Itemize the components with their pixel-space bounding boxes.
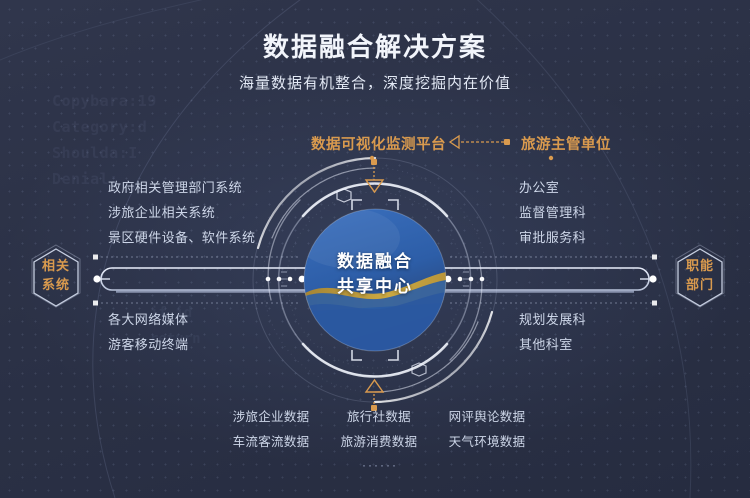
hexagon-right-label: 职能 部门 xyxy=(661,231,739,319)
bottom-data-grid: 涉旅企业数据 旅行社数据 网评舆论数据 车流客流数据 旅游消费数据 天气环境数据 xyxy=(230,405,530,455)
hexagon-left-label: 相关 系统 xyxy=(17,231,95,319)
right-column-bottom: 规划发展科 其他科室 xyxy=(519,307,586,357)
page-subtitle: 海量数据有机整合，深度挖掘内在价值 xyxy=(0,72,750,93)
list-item: 旅行社数据 xyxy=(338,405,420,430)
list-item: 涉旅企业相关系统 xyxy=(108,200,255,225)
left-column-top: 政府相关管理部门系统 涉旅企业相关系统 景区硬件设备、软件系统 xyxy=(108,175,255,250)
hexagon-left-line1: 相关 xyxy=(42,256,70,275)
marker-top xyxy=(366,159,383,192)
list-item: 游客移动终端 xyxy=(108,332,188,357)
list-item: 网评舆论数据 xyxy=(446,405,528,430)
right-column-top: 办公室 监督管理科 审批服务科 xyxy=(519,175,586,250)
hexagon-right-line2: 部门 xyxy=(686,275,714,294)
list-item: 办公室 xyxy=(519,175,586,200)
core-line2: 共享中心 xyxy=(299,274,451,299)
list-item: 监督管理科 xyxy=(519,200,586,225)
list-item: 旅游消费数据 xyxy=(338,430,420,455)
table-row: 涉旅企业数据 旅行社数据 网评舆论数据 xyxy=(230,405,530,430)
top-dashed-arrow xyxy=(450,136,510,148)
core-sphere-label: 数据融合 共享中心 xyxy=(299,249,451,299)
list-item: 景区硬件设备、软件系统 xyxy=(108,225,255,250)
label-tourism-authority[interactable]: 旅游主管单位 xyxy=(521,133,611,154)
list-item: 各大网络媒体 xyxy=(108,307,188,332)
list-item: 政府相关管理部门系统 xyxy=(108,175,255,200)
list-item: 天气环境数据 xyxy=(446,430,528,455)
hexagon-right-functional-departments[interactable]: 职能 部门 xyxy=(661,231,739,319)
list-item: 审批服务科 xyxy=(519,225,586,250)
right-connector-pipe xyxy=(444,255,657,306)
hexagon-left-line2: 系统 xyxy=(42,275,70,294)
left-column-bottom: 各大网络媒体 游客移动终端 xyxy=(108,307,188,357)
top-label-anchors xyxy=(370,156,553,160)
list-item: 规划发展科 xyxy=(519,307,586,332)
list-item: 其他科室 xyxy=(519,332,586,357)
hexagon-left-related-systems[interactable]: 相关 系统 xyxy=(17,231,95,319)
list-item: 车流客流数据 xyxy=(230,430,312,455)
page-title: 数据融合解决方案 xyxy=(0,27,750,64)
list-item: 涉旅企业数据 xyxy=(230,405,312,430)
label-visualization-platform[interactable]: 数据可视化监测平台 xyxy=(311,133,446,154)
hexagon-right-line1: 职能 xyxy=(686,256,714,275)
table-row: 车流客流数据 旅游消费数据 天气环境数据 xyxy=(230,430,530,455)
infographic-canvas: Copybara:19 Category:d Shoulda:I Denial:… xyxy=(0,0,750,498)
bottom-ellipsis: ······ xyxy=(230,458,530,472)
left-connector-pipe xyxy=(93,255,306,306)
core-line1: 数据融合 xyxy=(299,249,451,274)
